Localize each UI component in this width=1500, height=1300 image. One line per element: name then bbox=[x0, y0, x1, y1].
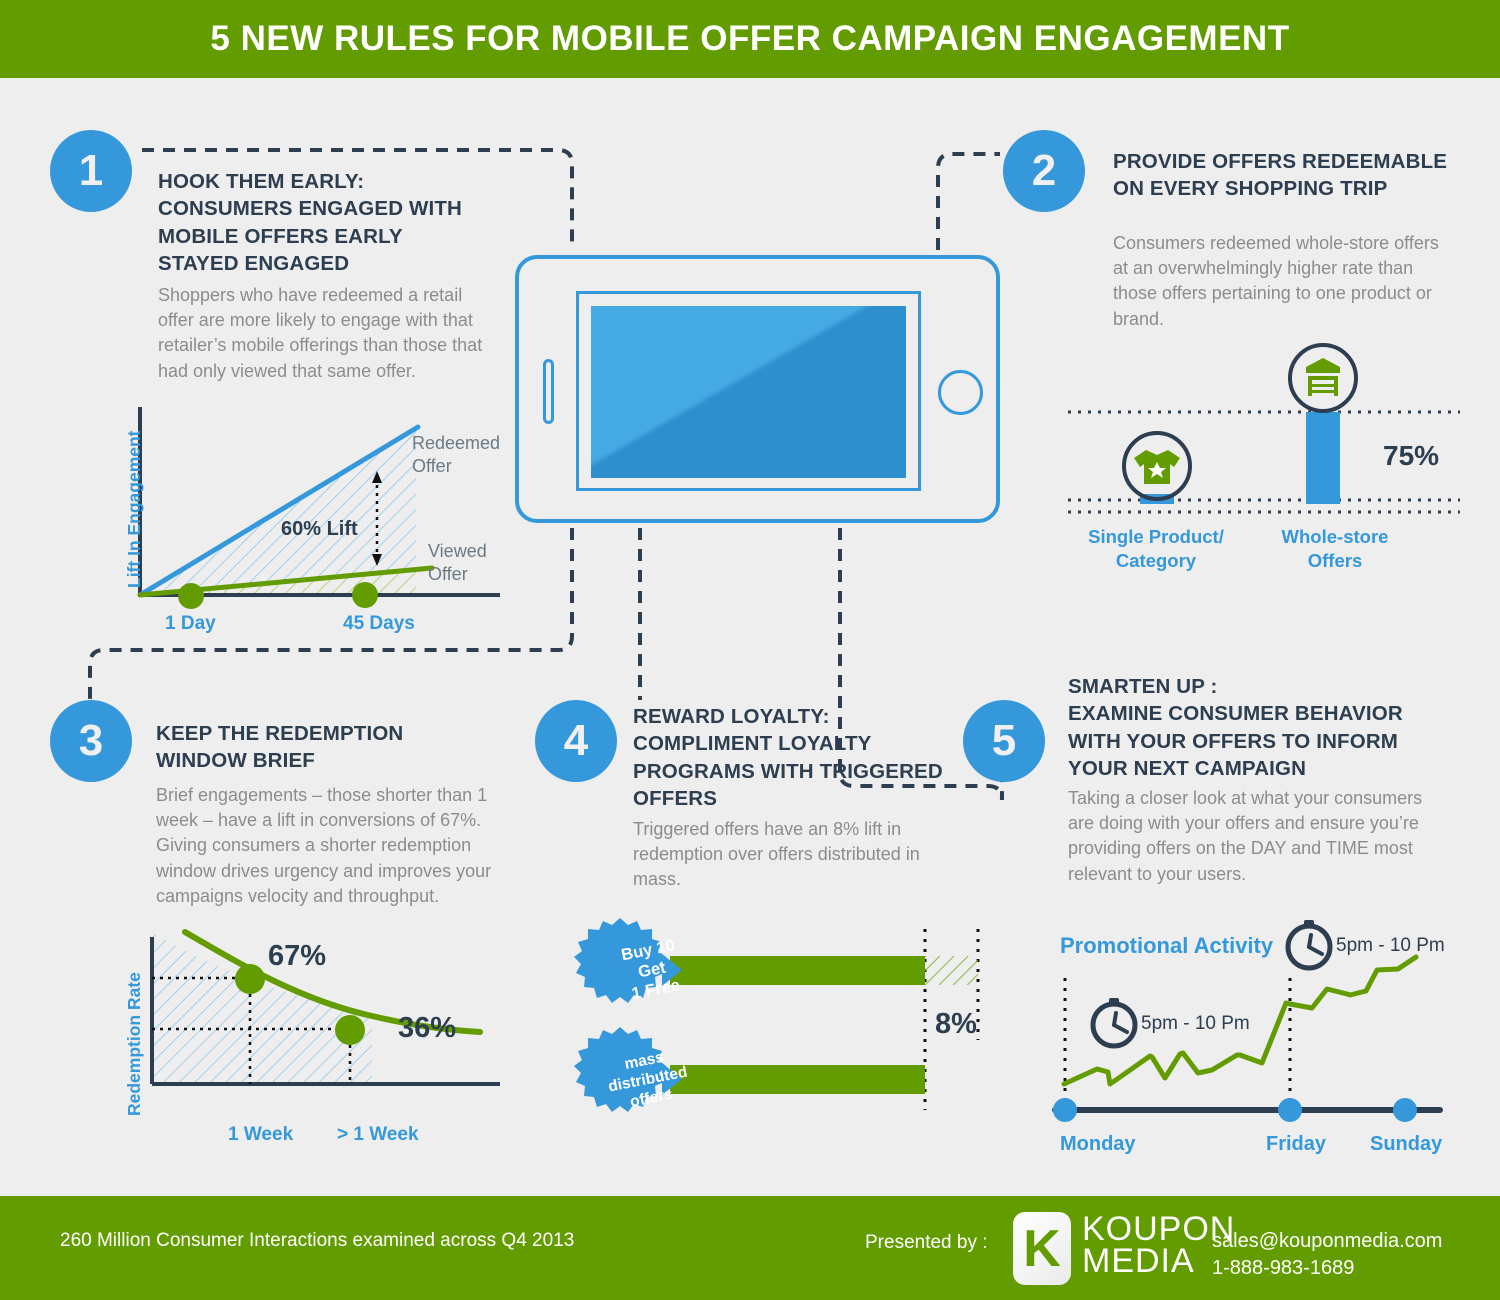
chart3-xtick-over1week: > 1 Week bbox=[337, 1124, 419, 1146]
phone-screen bbox=[591, 306, 906, 478]
koupon-logo-icon: K bbox=[1013, 1212, 1071, 1285]
section-number-2: 2 bbox=[1003, 130, 1085, 212]
wire-phone-to-2 bbox=[938, 154, 1000, 250]
section-3-body: Brief engagements – those shorter than 1… bbox=[156, 783, 501, 909]
section-number-1: 1 bbox=[50, 130, 132, 212]
contact-email[interactable]: sales@kouponmedia.com bbox=[1212, 1228, 1442, 1255]
section-2-heading: PROVIDE OFFERS REDEEMABLE ON EVERY SHOPP… bbox=[1113, 148, 1453, 203]
chart1-legend-viewed: Viewed Offer bbox=[428, 540, 487, 585]
page-title: 5 NEW RULES FOR MOBILE OFFER CAMPAIGN EN… bbox=[210, 19, 1289, 59]
section-1-body: Shoppers who have redeemed a retail offe… bbox=[158, 283, 493, 384]
section-1-heading: HOOK THEM EARLY: CONSUMERS ENGAGED WITH … bbox=[158, 168, 488, 277]
chart5-title: Promotional Activity bbox=[1060, 933, 1273, 959]
phone-speaker-icon bbox=[543, 359, 554, 424]
chart1-xtick-45days: 45 Days bbox=[343, 613, 415, 635]
chart3-y-axis-label: Redemption Rate bbox=[104, 930, 130, 1120]
phone-illustration bbox=[515, 255, 1000, 523]
section-3-heading: KEEP THE REDEMPTION WINDOW BRIEF bbox=[156, 720, 496, 775]
chart5-annotation-2: 5pm - 10 Pm bbox=[1336, 935, 1445, 957]
section-5-body: Taking a closer look at what your consum… bbox=[1068, 786, 1430, 887]
infographic-page: 5 NEW RULES FOR MOBILE OFFER CAMPAIGN EN… bbox=[0, 0, 1500, 1300]
chart1-xtick-1day: 1 Day bbox=[165, 613, 216, 635]
header-bar: 5 NEW RULES FOR MOBILE OFFER CAMPAIGN EN… bbox=[0, 0, 1500, 78]
chart5-annotation-1: 5pm - 10 Pm bbox=[1141, 1013, 1250, 1035]
chart4-value-8pct: 8% bbox=[935, 1008, 977, 1041]
chart1-y-axis-label: Lift In Engagement bbox=[104, 410, 130, 600]
section-number-3: 3 bbox=[50, 700, 132, 782]
chart1-legend-redeemed: Redeemed Offer bbox=[412, 432, 500, 477]
chart3-value-36: 36% bbox=[398, 1012, 456, 1045]
phone-bezel bbox=[576, 291, 921, 491]
section-4-heading: REWARD LOYALTY: COMPLIMENT LOYALTY PROGR… bbox=[633, 703, 953, 812]
section-2-body: Consumers redeemed whole-store offers at… bbox=[1113, 231, 1451, 332]
chart5-xtick-friday: Friday bbox=[1266, 1133, 1326, 1156]
chart1-lift-label: 60% Lift bbox=[281, 518, 358, 541]
presented-by-label: Presented by : bbox=[865, 1232, 988, 1254]
chart2-category-whole-store: Whole-store Offers bbox=[1250, 525, 1420, 573]
chart-wholestore-vs-single bbox=[1060, 340, 1470, 530]
section-5-heading: SMARTEN UP : EXAMINE CONSUMER BEHAVIOR W… bbox=[1068, 673, 1418, 782]
chart5-xtick-monday: Monday bbox=[1060, 1133, 1136, 1156]
section-number-4: 4 bbox=[535, 700, 617, 782]
contact-phone[interactable]: 1-888-983-1689 bbox=[1212, 1255, 1442, 1282]
section-4-body: Triggered offers have an 8% lift in rede… bbox=[633, 817, 943, 893]
phone-home-button-icon bbox=[938, 370, 983, 415]
chart2-category-single-product: Single Product/ Category bbox=[1076, 525, 1236, 573]
section-number-5: 5 bbox=[963, 700, 1045, 782]
chart2-value-label: 75% bbox=[1383, 440, 1439, 472]
footer-note: 260 Million Consumer Interactions examin… bbox=[60, 1230, 574, 1252]
chart5-xtick-sunday: Sunday bbox=[1370, 1133, 1442, 1156]
contact-info: sales@kouponmedia.com 1-888-983-1689 bbox=[1212, 1228, 1442, 1282]
chart3-xtick-1week: 1 Week bbox=[228, 1124, 293, 1146]
chart3-value-67: 67% bbox=[268, 940, 326, 973]
